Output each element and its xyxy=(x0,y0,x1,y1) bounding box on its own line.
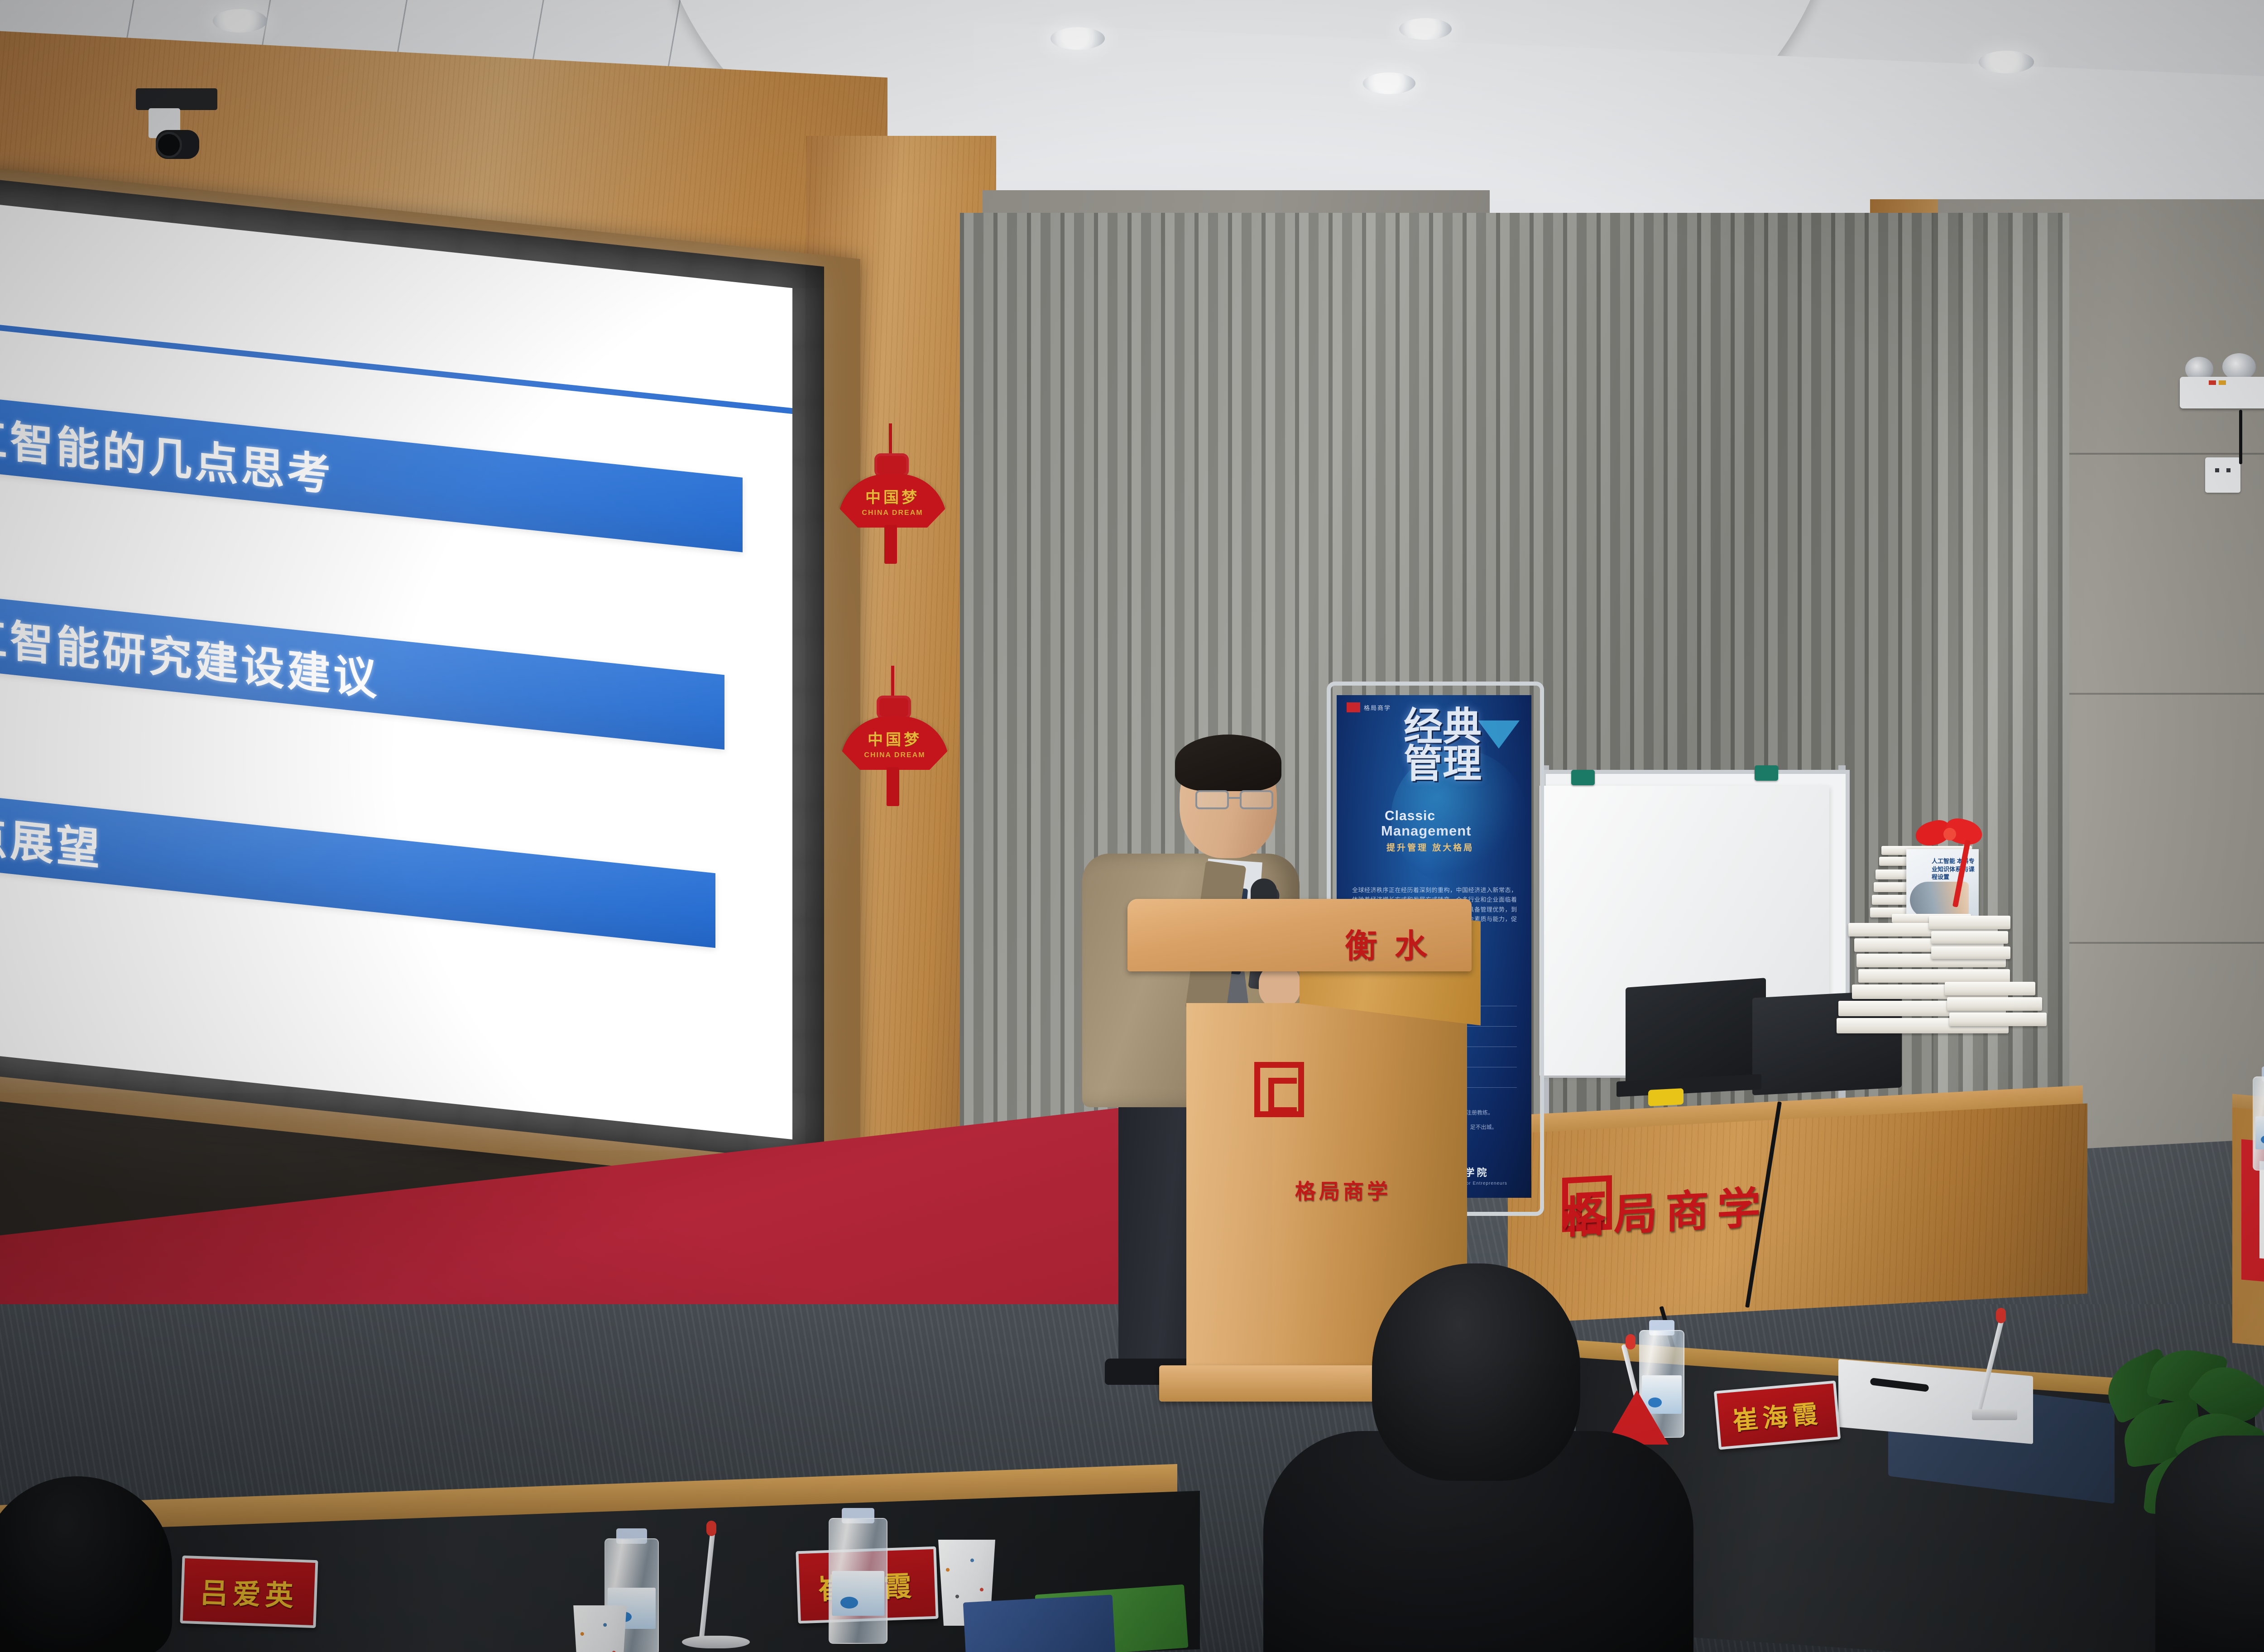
podium-body-side xyxy=(1186,1003,1272,1383)
glasses-lens-left xyxy=(1195,790,1229,809)
back-table-brand-label: 格局商学 xyxy=(1562,1172,1769,1246)
flipchart-clip-left[interactable] xyxy=(1571,770,1595,785)
china-dream-decoration: 中国梦 CHINA DREAM xyxy=(835,423,949,573)
desk-microphone[interactable] xyxy=(670,1517,761,1652)
poster-brand-square-icon xyxy=(1347,702,1360,712)
camera-lens-icon xyxy=(156,132,182,158)
bottle-label-badge xyxy=(2261,1135,2264,1144)
book xyxy=(1945,982,2035,995)
flipchart-clip-right[interactable] xyxy=(1755,765,1778,781)
indicator-red xyxy=(2209,380,2216,385)
downlight xyxy=(1979,51,2034,73)
camera-mount-plate xyxy=(136,88,217,110)
emergency-lamp-right xyxy=(2222,353,2256,380)
speaker-hair xyxy=(1175,735,1281,791)
glasses-lens-right xyxy=(1240,790,1273,809)
name-plate: 崔海霞 xyxy=(1714,1380,1841,1450)
emergency-light-icon xyxy=(2173,353,2264,412)
brand-banner-logo-icon xyxy=(2259,1161,2264,1264)
mic-tip xyxy=(1996,1308,2006,1323)
slide-bar-1: 工智能的几点思考 xyxy=(0,394,743,552)
book xyxy=(1858,969,2010,983)
mic-base xyxy=(1972,1409,2017,1420)
name-plate-label: 吕爱英 xyxy=(199,1570,298,1614)
water-bottle[interactable] xyxy=(2253,1066,2264,1171)
slide-bar-2-label: 工智能研究建设建议 xyxy=(0,601,379,707)
slide-bar-3-label: 点展望 xyxy=(0,800,102,878)
name-plate: 吕爱英 xyxy=(180,1556,318,1628)
podium-city-label: 衡水 xyxy=(1345,919,1444,967)
knot-en-label: CHINA DREAM xyxy=(864,751,925,759)
mic-arm xyxy=(699,1532,715,1640)
downlight xyxy=(213,9,267,33)
audience-member-right xyxy=(2155,1436,2264,1652)
projection-screen[interactable]: 工智能的几点思考 工智能研究建设建议 点展望 xyxy=(0,201,792,1139)
poster-brand-row: 格局商学 xyxy=(1347,702,1391,712)
downlight xyxy=(1050,27,1105,50)
blue-folder[interactable] xyxy=(963,1594,1115,1652)
book xyxy=(1947,997,2042,1011)
gift-ribbon-icon xyxy=(1915,816,1988,850)
knot-tassel xyxy=(884,525,897,564)
poster-brand-label: 格局商学 xyxy=(1364,703,1391,712)
book-stack: 人工智能 本科专业知识体系 与课程设置 xyxy=(1838,802,2056,1119)
bottle-label xyxy=(2255,1116,2264,1149)
poster-title-en-2: Management xyxy=(1381,823,1471,839)
china-dream-decoration: 中国梦 CHINA DREAM xyxy=(838,666,951,815)
mic-tip xyxy=(1626,1334,1636,1349)
poster-title-en-1: Classic xyxy=(1385,808,1435,824)
bottle-body xyxy=(829,1518,887,1644)
mic-base xyxy=(682,1636,750,1648)
podium-brand-label: 格局商学 xyxy=(1295,1175,1391,1205)
podium-logo-icon xyxy=(1254,1062,1304,1117)
speaker-glasses-icon xyxy=(1195,790,1277,810)
paper-cup[interactable] xyxy=(568,1605,632,1652)
cup-pattern xyxy=(568,1605,632,1652)
poster-title-cn: 经典管理 xyxy=(1404,709,1512,783)
ribbon-knot xyxy=(1943,828,1956,840)
knot-tie xyxy=(874,453,909,477)
bottle-body xyxy=(2253,1076,2264,1171)
yellow-marker[interactable] xyxy=(1648,1088,1684,1106)
knot-cn-label: 中国梦 xyxy=(865,485,920,507)
mic-arm xyxy=(1976,1319,2004,1412)
book xyxy=(1929,916,2010,929)
glasses-bridge xyxy=(1229,797,1241,799)
knot-tassel xyxy=(887,767,899,806)
slide-bar-2: 工智能研究建设建议 xyxy=(0,593,724,750)
knot-cn-label: 中国梦 xyxy=(868,727,922,749)
downlight xyxy=(1363,72,1415,94)
knot-en-label: CHINA DREAM xyxy=(862,509,923,517)
poster-tagline: 提升管理 放大格局 xyxy=(1386,841,1474,853)
wall-outlet-icon xyxy=(2205,457,2240,493)
bottle-label xyxy=(832,1571,884,1616)
mic-tip xyxy=(706,1521,716,1536)
bottle-label-badge xyxy=(840,1597,858,1609)
audience-member-head xyxy=(1372,1263,1580,1481)
security-camera-icon xyxy=(136,88,231,179)
water-bottle[interactable] xyxy=(829,1508,887,1644)
knot-fan: 中国梦 CHINA DREAM xyxy=(838,474,947,528)
knot-fan: 中国梦 CHINA DREAM xyxy=(840,716,949,770)
conference-hall-photo: 工智能的几点思考 工智能研究建设建议 点展望 中国梦 CHINA DREAM 中… xyxy=(0,0,2264,1652)
book xyxy=(1949,1013,2047,1026)
downlight xyxy=(1399,18,1452,40)
outlet-cable xyxy=(2239,410,2242,464)
book-cover-ai: 人工智能 本科专业知识体系 与课程设置 xyxy=(1906,849,1979,922)
knot-tie xyxy=(877,696,911,719)
slide-bar-3: 点展望 xyxy=(0,792,715,948)
book xyxy=(1931,931,2008,944)
slide-top-rule xyxy=(0,321,792,414)
indicator-amber xyxy=(2219,380,2226,385)
book xyxy=(1931,946,2010,959)
slide-bar-1-label: 工智能的几点思考 xyxy=(0,402,333,504)
desk-microphone[interactable] xyxy=(1961,1304,2029,1422)
book-cover-title: 人工智能 本科专业知识体系 与课程设置 xyxy=(1932,857,1979,881)
name-plate-label: 崔海霞 xyxy=(1731,1393,1823,1437)
